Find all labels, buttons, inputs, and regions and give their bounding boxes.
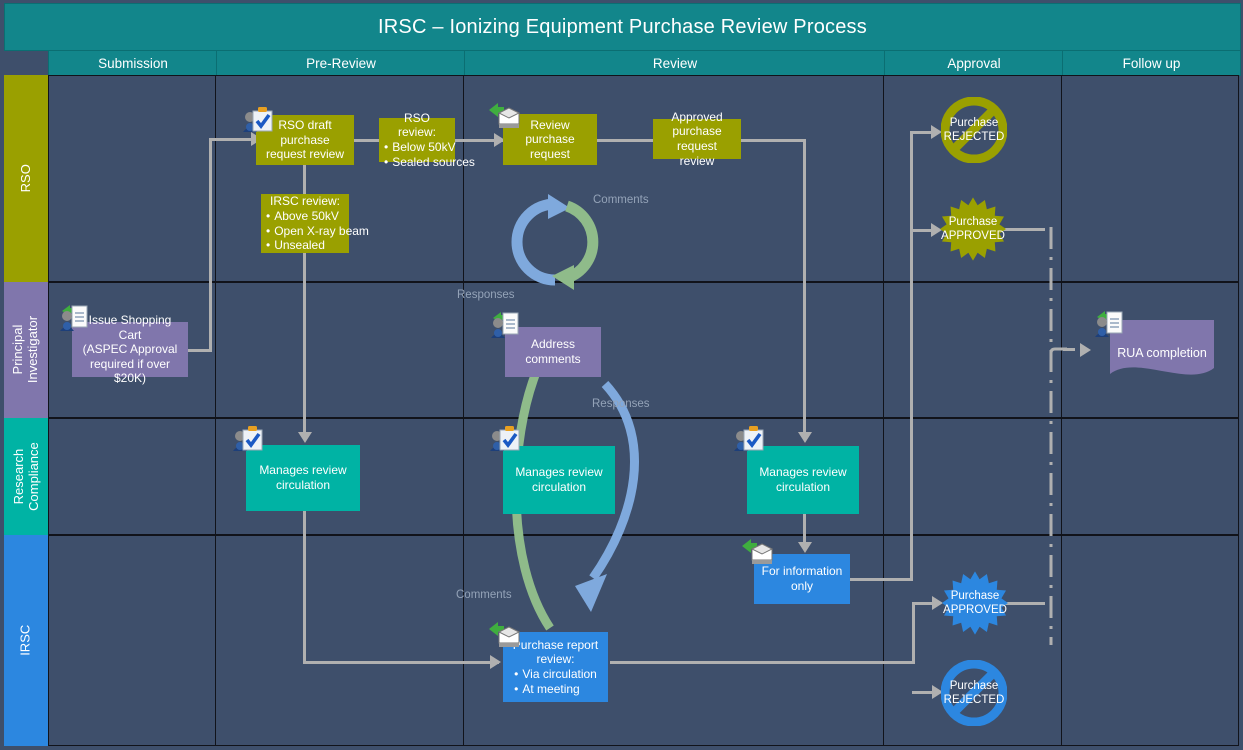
caption-responses-right: Responses xyxy=(592,398,650,410)
node-label: RUA completion xyxy=(1110,346,1214,360)
mailbox-incoming-icon xyxy=(740,536,774,566)
arrowhead-to-manages-review-3 xyxy=(798,432,812,443)
node-label: (ASPEC Approval xyxy=(83,342,178,357)
badge-text: Purchase APPROVED xyxy=(941,215,1005,244)
bullet-item: Sealed sources xyxy=(384,155,475,170)
caption-comments-bottom: Comments xyxy=(456,589,512,601)
arrowhead-to-manages-review-1 xyxy=(298,432,312,443)
phase-header-submission: Submission xyxy=(48,50,218,76)
node-label: Manages review xyxy=(759,465,846,480)
lane-label-rso: RSO xyxy=(4,75,48,282)
bullet-item: Below 50kV xyxy=(384,140,475,155)
dash-dot-connector xyxy=(1033,225,1073,655)
node-label: Approved purchase request review xyxy=(658,110,736,169)
bullet-item: At meeting xyxy=(514,682,597,697)
bullet-item: Above 50kV xyxy=(266,209,369,224)
bullet-item: Unsealed xyxy=(266,238,369,253)
node-label: IRSC review: xyxy=(266,194,344,209)
connector-report-branch-v xyxy=(912,602,915,664)
badge-purchase-approved-rso[interactable]: Purchase APPROVED xyxy=(940,196,1006,262)
connector-info-right xyxy=(850,578,913,581)
node-label: RSO review: xyxy=(384,111,450,140)
connector-manages1-down xyxy=(303,511,306,663)
person-document-icon xyxy=(489,310,523,340)
connector-approved-down xyxy=(803,139,806,436)
node-manages-review-circulation-3[interactable]: Manages review circulation xyxy=(747,446,859,514)
caption-responses-left: Responses xyxy=(457,289,515,301)
node-label: comments xyxy=(525,352,580,367)
node-irsc-review-criteria[interactable]: IRSC review: Above 50kV Open X-ray beam … xyxy=(261,194,349,253)
connector-irscreview-to-manages1 xyxy=(303,253,306,436)
mailbox-incoming-icon xyxy=(487,619,521,649)
phase-header-review: Review xyxy=(464,50,886,76)
person-document-icon xyxy=(58,303,92,333)
badge-purchase-rejected-rso[interactable]: Purchase REJECTED xyxy=(941,97,1007,163)
phase-header-approval: Approval xyxy=(884,50,1064,76)
connector-cart-to-rso-2 xyxy=(209,138,212,352)
person-clipboard-check-icon xyxy=(241,105,275,135)
phase-label: Review xyxy=(653,56,697,71)
person-clipboard-check-icon xyxy=(732,424,766,454)
connector-draft-to-irscreview xyxy=(303,165,306,195)
node-label: Manages review xyxy=(515,465,602,480)
bullet-item: Open X-ray beam xyxy=(266,224,369,239)
lane-label-principal-investigator: Principal Investigator xyxy=(4,282,48,418)
node-label: Address xyxy=(531,337,575,352)
node-manages-review-circulation-1[interactable]: Manages review circulation xyxy=(246,445,360,511)
diagram-canvas: IRSC – Ionizing Equipment Purchase Revie… xyxy=(0,0,1243,750)
badge-text: Purchase APPROVED xyxy=(943,589,1007,618)
arrowhead-to-for-information-only xyxy=(798,542,812,553)
node-label: circulation xyxy=(276,478,330,493)
node-label: circulation xyxy=(776,480,830,495)
node-label: For information xyxy=(762,564,843,579)
phase-divider-1 xyxy=(215,75,216,746)
page-title: IRSC – Ionizing Equipment Purchase Revie… xyxy=(378,16,867,39)
node-label: Purchase report review: xyxy=(508,638,603,667)
node-label: required if over $20K) xyxy=(77,357,183,386)
node-label: Manages review xyxy=(259,463,346,478)
phase-label: Follow up xyxy=(1123,56,1181,71)
connector-cart-to-rso-3 xyxy=(209,138,255,141)
node-bullets: Below 50kV Sealed sources xyxy=(384,140,475,169)
caption-comments-top: Comments xyxy=(593,194,649,206)
bullet-item: Via circulation xyxy=(514,667,597,682)
comments-loop-icon xyxy=(505,192,615,292)
badge-purchase-rejected-irsc[interactable]: Purchase REJECTED xyxy=(941,660,1007,726)
diagram-title-bar: IRSC – Ionizing Equipment Purchase Revie… xyxy=(4,3,1241,51)
person-clipboard-check-icon xyxy=(488,424,522,454)
node-bullets: Via circulation At meeting xyxy=(514,667,597,696)
badge-text: Purchase REJECTED xyxy=(944,679,1005,708)
node-label: circulation xyxy=(532,480,586,495)
phase-divider-2 xyxy=(463,75,464,746)
node-approved-purchase-request-review[interactable]: Approved purchase request review xyxy=(653,119,741,159)
phase-label: Approval xyxy=(947,56,1000,71)
phase-label: Pre-Review xyxy=(306,56,376,71)
person-clipboard-check-icon xyxy=(231,424,265,454)
node-manages-review-circulation-2[interactable]: Manages review circulation xyxy=(503,446,615,514)
lane-label-irsc: IRSC xyxy=(4,535,48,746)
node-label: only xyxy=(791,579,813,594)
connector-manages1-to-report xyxy=(303,661,499,664)
connector-report-right xyxy=(610,661,915,664)
phase-divider-3 xyxy=(883,75,884,746)
connector-review-to-approved xyxy=(597,139,653,142)
connector-approved-right xyxy=(740,139,806,142)
person-document-icon xyxy=(1093,309,1127,339)
phase-header-follow-up: Follow up xyxy=(1062,50,1241,76)
connector-info-up xyxy=(910,131,913,580)
arrowhead-to-purchase-report-review xyxy=(490,655,501,669)
mailbox-incoming-icon xyxy=(487,100,521,130)
badge-purchase-approved-irsc[interactable]: Purchase APPROVED xyxy=(942,570,1008,636)
node-rso-review-criteria[interactable]: RSO review: Below 50kV Sealed sources xyxy=(379,118,455,162)
connector-to-rua-1 xyxy=(1063,348,1075,351)
arrowhead-to-rua-completion xyxy=(1080,343,1091,357)
lane-label-research-compliance: Research Compliance xyxy=(4,418,48,535)
phase-header-pre-review: Pre-Review xyxy=(216,50,466,76)
node-label: Issue Shopping Cart xyxy=(77,313,183,342)
phase-label: Submission xyxy=(98,56,168,71)
badge-text: Purchase REJECTED xyxy=(944,116,1005,145)
node-bullets: Above 50kV Open X-ray beam Unsealed xyxy=(266,209,369,253)
